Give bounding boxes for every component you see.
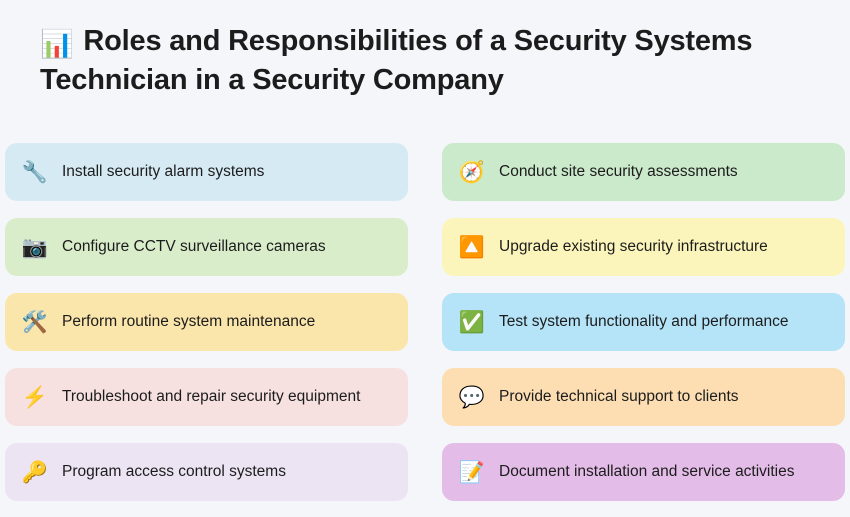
responsibility-card[interactable]: 🔑Program access control systems [5, 443, 408, 501]
responsibility-card[interactable]: ✅Test system functionality and performan… [442, 293, 845, 351]
hammer-and-wrench-icon: 🛠️ [20, 312, 50, 333]
responsibility-card[interactable]: 📝Document installation and service activ… [442, 443, 845, 501]
speech-balloon-icon: 💬 [457, 387, 487, 408]
page-title-block: 📊Roles and Responsibilities of a Securit… [40, 22, 820, 100]
responsibility-card-label: Troubleshoot and repair security equipme… [62, 388, 396, 406]
camera-icon: 📷 [20, 237, 50, 258]
right-card-column: 🧭Conduct site security assessments🔼Upgra… [442, 143, 845, 501]
responsibility-card-label: Provide technical support to clients [499, 388, 833, 406]
responsibility-card-label: Document installation and service activi… [499, 463, 833, 481]
key-icon: 🔑 [20, 462, 50, 483]
check-mark-button-icon: ✅ [457, 312, 487, 333]
responsibility-card[interactable]: 🔼Upgrade existing security infrastructur… [442, 218, 845, 276]
responsibility-card[interactable]: 🛠️Perform routine system maintenance [5, 293, 408, 351]
responsibility-card-label: Upgrade existing security infrastructure [499, 238, 833, 256]
responsibility-card-label: Perform routine system maintenance [62, 313, 396, 331]
responsibility-card[interactable]: 🔧Install security alarm systems [5, 143, 408, 201]
responsibility-card[interactable]: 📷Configure CCTV surveillance cameras [5, 218, 408, 276]
left-card-column: 🔧Install security alarm systems📷Configur… [5, 143, 408, 501]
responsibility-card-label: Conduct site security assessments [499, 163, 833, 181]
up-arrow-button-icon: 🔼 [457, 237, 487, 258]
wrench-icon: 🔧 [20, 162, 50, 183]
responsibility-card[interactable]: 💬Provide technical support to clients [442, 368, 845, 426]
memo-icon: 📝 [457, 462, 487, 483]
high-voltage-icon: ⚡ [20, 387, 50, 408]
responsibility-card[interactable]: 🧭Conduct site security assessments [442, 143, 845, 201]
infographic-page: 📊Roles and Responsibilities of a Securit… [0, 0, 850, 517]
responsibility-card-label: Test system functionality and performanc… [499, 313, 833, 331]
responsibility-card-label: Install security alarm systems [62, 163, 396, 181]
responsibility-card-label: Program access control systems [62, 463, 396, 481]
page-title-text: Roles and Responsibilities of a Security… [40, 25, 752, 96]
page-title: 📊Roles and Responsibilities of a Securit… [40, 22, 820, 100]
responsibility-card-label: Configure CCTV surveillance cameras [62, 238, 396, 256]
compass-icon: 🧭 [457, 162, 487, 183]
bar-chart-icon: 📊 [40, 29, 73, 59]
responsibility-card[interactable]: ⚡Troubleshoot and repair security equipm… [5, 368, 408, 426]
